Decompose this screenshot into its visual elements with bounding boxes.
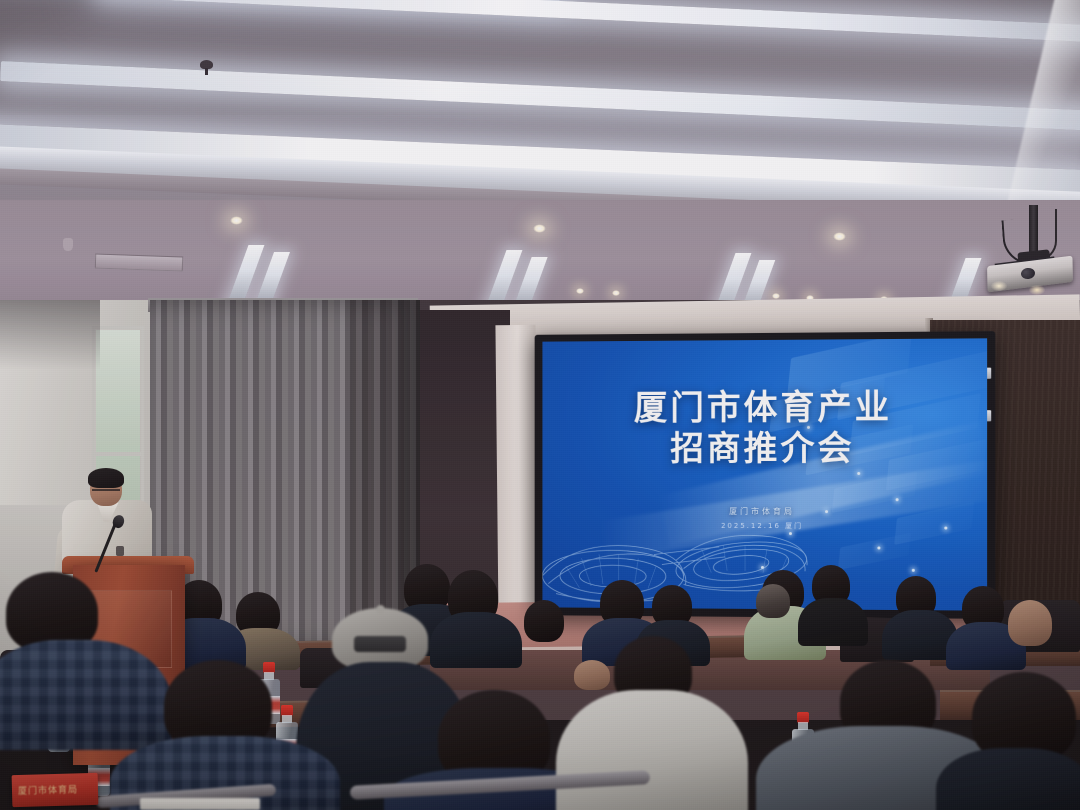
- speaker-hair: [88, 468, 124, 488]
- attendee-head-4: [756, 584, 790, 618]
- downlight-3: [833, 232, 846, 241]
- slide-sparkle-7: [912, 569, 915, 572]
- projector: [985, 205, 1080, 300]
- attendee-head-14: [574, 660, 610, 690]
- speaker-badge: [116, 546, 124, 556]
- cap-strap: [354, 636, 406, 652]
- attendee-head-13: [524, 600, 564, 642]
- cap-button: [376, 605, 385, 614]
- wall-strip-left-of-screen: [495, 325, 538, 625]
- slide-date-location: 2025.12.16 厦门: [542, 520, 987, 531]
- projector-mount-pole: [1029, 205, 1038, 255]
- window-mullion: [92, 452, 144, 456]
- speaker-glasses-icon: [92, 489, 120, 494]
- ceiling-speaker: [63, 238, 73, 251]
- attendee-body-fg-4-hoodie: [556, 690, 748, 810]
- ceiling-air-vent: [95, 253, 183, 271]
- downlight-2: [533, 224, 546, 233]
- downlight-1: [230, 216, 243, 225]
- attendee-body-fg-6: [936, 748, 1080, 810]
- downlight-4: [576, 288, 584, 294]
- ceiling: [0, 0, 1080, 330]
- downlight-5: [612, 290, 620, 296]
- attendee-body-5: [798, 598, 868, 646]
- attendee-body-fg-1-plaid: [0, 640, 172, 750]
- slide-panel-9: [838, 533, 911, 570]
- slide-sparkle-6: [877, 546, 880, 549]
- document-on-table-1: [140, 798, 260, 810]
- attendee-body-12: [430, 612, 522, 668]
- attendee-head-8: [1008, 600, 1052, 646]
- slide-canvas: 厦门市体育产业 招商推介会 厦门市体育局 2025.12.16 厦门: [542, 338, 987, 610]
- projector-indicator-1: [991, 281, 1007, 291]
- slide-sparkle-2: [857, 472, 860, 475]
- name-plate-text: 厦门市体育局: [18, 782, 94, 797]
- slide-title-line1: 厦门市体育产业: [634, 387, 892, 428]
- left-wall-shadow: [0, 300, 100, 370]
- projection-screen[interactable]: 厦门市体育产业 招商推介会 厦门市体育局 2025.12.16 厦门: [535, 331, 996, 619]
- name-plate: 厦门市体育局: [12, 773, 99, 807]
- downlight-6: [772, 293, 780, 299]
- slide-title: 厦门市体育产业 招商推介会: [542, 387, 987, 471]
- projector-indicator-2: [1029, 285, 1045, 295]
- slide-organizer: 厦门市体育局: [542, 506, 987, 518]
- slide-title-line2: 招商推介会: [542, 429, 987, 471]
- smoke-detector-icon: [200, 60, 213, 69]
- attendee-cap-grey: [332, 608, 428, 670]
- conference-photo: 厦门市体育产业 招商推介会 厦门市体育局 2025.12.16 厦门: [0, 0, 1080, 810]
- slide-sparkle-3: [896, 498, 899, 501]
